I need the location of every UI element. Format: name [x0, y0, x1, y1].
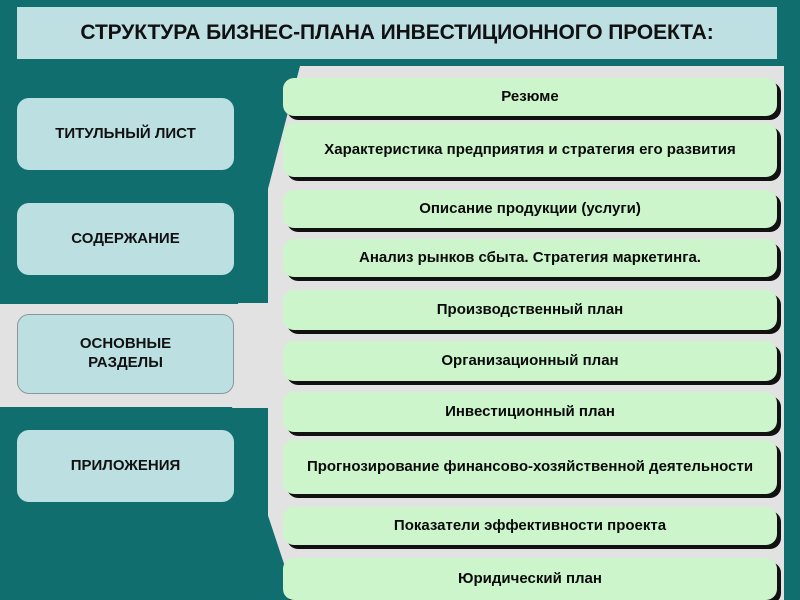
right-box-2[interactable]: Характеристика предприятия и стратегия е… — [283, 123, 777, 177]
right-box-label: Описание продукции (услуги) — [293, 200, 767, 218]
right-box-8[interactable]: Прогнозирование финансово-хозяйственной … — [283, 440, 777, 494]
left-box-4[interactable]: ПРИЛОЖЕНИЯ — [17, 430, 234, 502]
left-box-label: ПРИЛОЖЕНИЯ — [71, 457, 181, 476]
right-box-label: Прогнозирование финансово-хозяйственной … — [293, 458, 767, 476]
right-box-label: Резюме — [293, 88, 767, 106]
right-box-1[interactable]: Резюме — [283, 78, 777, 116]
right-box-label: Юридический план — [293, 570, 767, 588]
right-box-label: Производственный план — [293, 301, 767, 319]
right-box-label: Организационный план — [293, 352, 767, 370]
left-box-label: ОСНОВНЫЕ РАЗДЕЛЫ — [80, 335, 171, 373]
right-box-label: Характеристика предприятия и стратегия е… — [293, 141, 767, 159]
slide-title-bar: СТРУКТУРА БИЗНЕС-ПЛАНА ИНВЕСТИЦИОННОГО П… — [17, 7, 777, 59]
page-title: СТРУКТУРА БИЗНЕС-ПЛАНА ИНВЕСТИЦИОННОГО П… — [80, 21, 713, 45]
left-box-label: СОДЕРЖАНИЕ — [71, 230, 179, 249]
right-box-label: Инвестиционный план — [293, 403, 767, 421]
right-box-5[interactable]: Производственный план — [283, 290, 777, 330]
left-box-3[interactable]: ОСНОВНЫЕ РАЗДЕЛЫ — [17, 314, 234, 394]
right-box-4[interactable]: Анализ рынков сбыта. Стратегия маркетинг… — [283, 239, 777, 277]
right-box-9[interactable]: Показатели эффективности проекта — [283, 507, 777, 545]
right-box-3[interactable]: Описание продукции (услуги) — [283, 190, 777, 228]
right-box-6[interactable]: Организационный план — [283, 341, 777, 381]
right-box-7[interactable]: Инвестиционный план — [283, 392, 777, 432]
right-box-10[interactable]: Юридический план — [283, 558, 777, 600]
right-box-label: Показатели эффективности проекта — [293, 517, 767, 535]
left-box-2[interactable]: СОДЕРЖАНИЕ — [17, 203, 234, 275]
right-box-label: Анализ рынков сбыта. Стратегия маркетинг… — [293, 249, 767, 267]
left-box-1[interactable]: ТИТУЛЬНЫЙ ЛИСТ — [17, 98, 234, 170]
left-box-label: ТИТУЛЬНЫЙ ЛИСТ — [55, 125, 196, 144]
slide-canvas: СТРУКТУРА БИЗНЕС-ПЛАНА ИНВЕСТИЦИОННОГО П… — [0, 0, 800, 600]
